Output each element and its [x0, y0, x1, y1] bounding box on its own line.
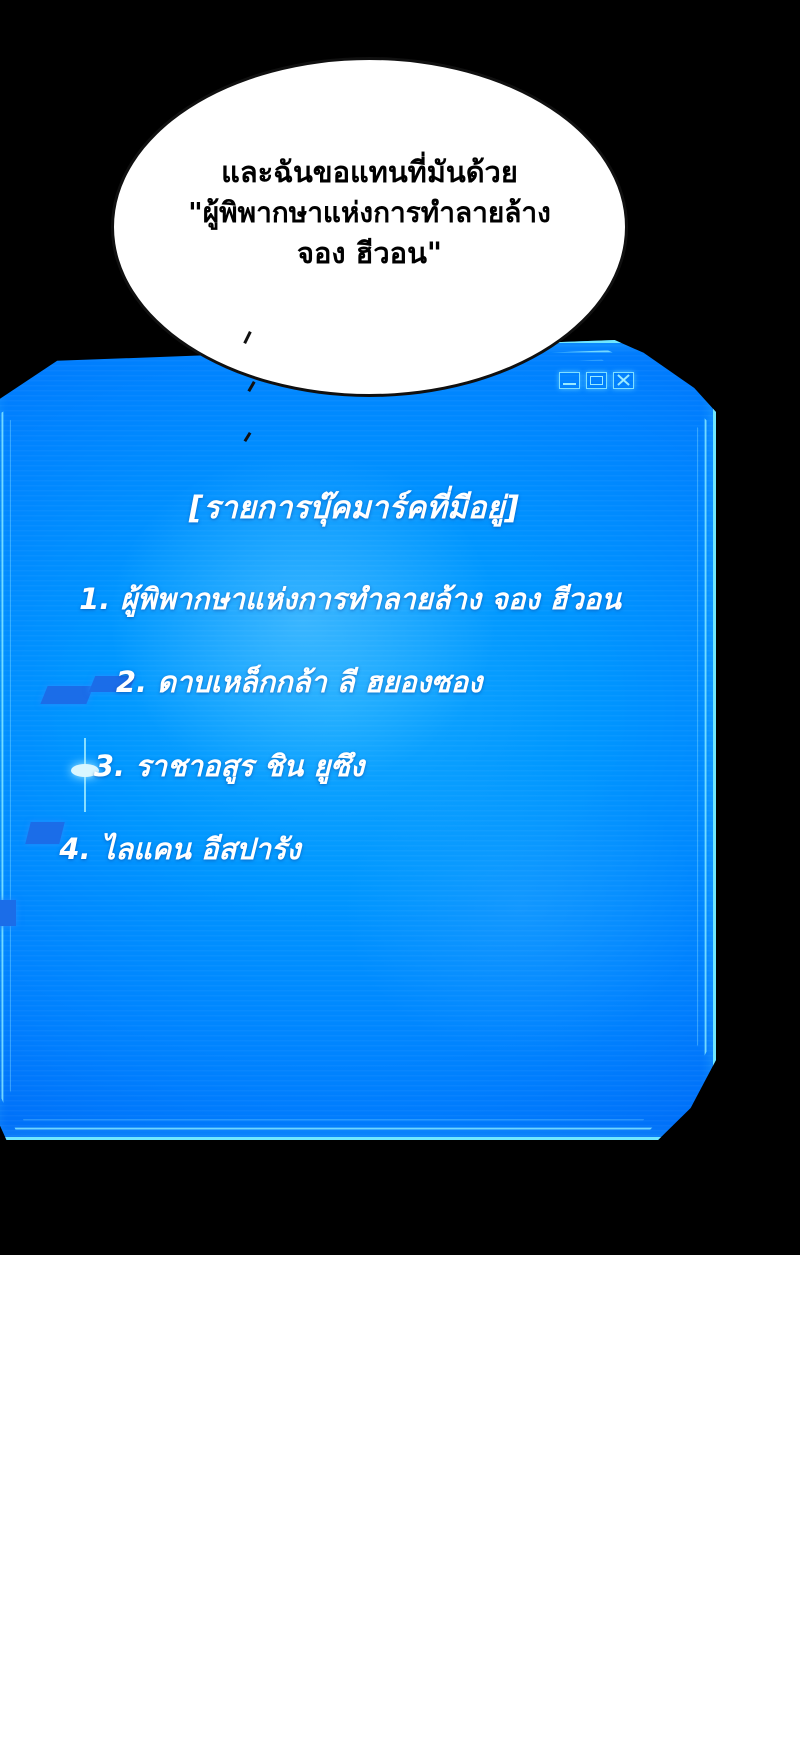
bookmark-list: 1. ผู้พิพากษาแห่งการทำลายล้าง จอง ฮีวอน … [0, 582, 716, 916]
list-item[interactable]: 3. ราชาอสูร ชิน ยูซึง [0, 749, 716, 784]
bookmark-list-title: [รายการบุ๊คมาร์คที่มีอยู่] [0, 482, 716, 532]
webtoon-panel: [รายการบุ๊คมาร์คที่มีอยู่] 1. ผู้พิพากษา… [0, 0, 800, 1751]
speech-line-3: จอง ฮีวอน" [128, 233, 611, 274]
system-window-content: [รายการบุ๊คมาร์คที่มีอยู่] 1. ผู้พิพากษา… [0, 340, 716, 1140]
list-item[interactable]: 1. ผู้พิพากษาแห่งการทำลายล้าง จอง ฮีวอน [0, 582, 716, 617]
speech-line-1: และฉันขอแทนที่มันด้วย [128, 152, 611, 193]
speech-bubble-text: และฉันขอแทนที่มันด้วย "ผู้พิพากษาแห่งการ… [114, 152, 625, 274]
speech-line-2: "ผู้พิพากษาแห่งการทำลายล้าง [128, 193, 611, 233]
system-window[interactable]: [รายการบุ๊คมาร์คที่มีอยู่] 1. ผู้พิพากษา… [0, 340, 716, 1140]
page-white-bottom [0, 1255, 800, 1751]
list-item[interactable]: 2. ดาบเหล็กกล้า ลี ฮยองซอง [0, 665, 716, 700]
list-item[interactable]: 4. ไลแคน อีสปารัง [0, 832, 716, 867]
speech-bubble: และฉันขอแทนที่มันด้วย "ผู้พิพากษาแห่งการ… [111, 57, 628, 397]
